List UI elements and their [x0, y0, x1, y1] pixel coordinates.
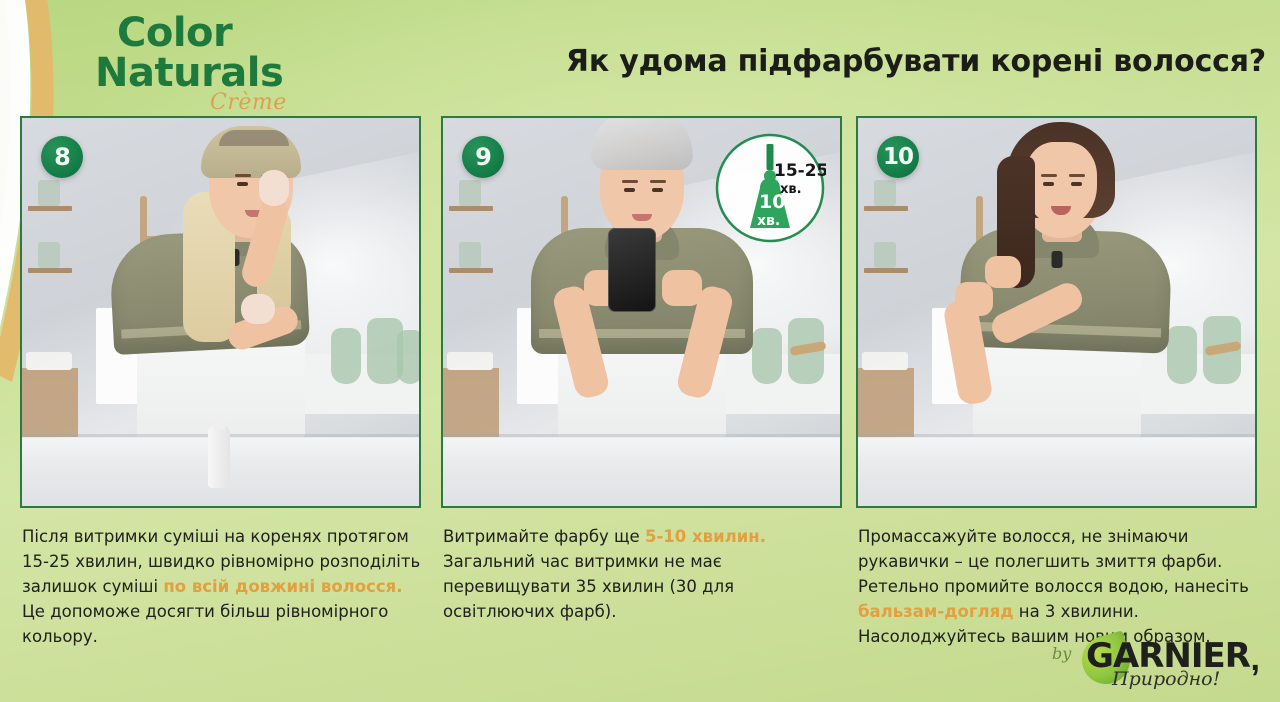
- step-image-10: [858, 118, 1255, 506]
- step-caption-10: Промассажуйте волосся, не знімаючи рукав…: [858, 524, 1270, 649]
- wall-shelf: [28, 168, 72, 288]
- timer-icon: 15-25 хв. 10 хв.: [714, 132, 826, 244]
- brand-logo: Color Naturals Crème: [95, 8, 395, 108]
- step-caption-9: Витримайте фарбу ще 5-10 хвилин. Загальн…: [443, 524, 843, 624]
- caption-highlight: 5-10 хвилин.: [645, 527, 766, 546]
- poster-canvas: Color Naturals Crème Як удома підфарбува…: [0, 0, 1280, 702]
- step-number-10: 10: [883, 146, 913, 169]
- step-badge-10: 10: [877, 136, 919, 178]
- model-figure-10: [927, 138, 1187, 438]
- step-number-9: 9: [475, 145, 491, 169]
- garnier-logo: by GARNIER , Природно!: [1046, 632, 1262, 694]
- timer-bottom-label: 10: [759, 191, 785, 213]
- vase-prop: [397, 330, 419, 384]
- caption-highlight: бальзам-догляд: [858, 602, 1014, 621]
- caption-text-before: Промассажуйте волосся, не знімаючи рукав…: [858, 527, 1249, 596]
- step-panel-8: 8: [20, 116, 421, 508]
- page-title: Як удома підфарбувати корені волосся?: [560, 44, 1266, 79]
- step-panel-10: 10: [856, 116, 1257, 508]
- step-panel-9: 9 15-25 хв. 10 хв.: [441, 116, 842, 508]
- step-image-8: [22, 118, 419, 506]
- brand-line-3: Crème: [210, 90, 287, 115]
- step-caption-8: Після витримки суміші на коренях протяго…: [22, 524, 422, 649]
- model-figure-8: [91, 138, 351, 438]
- bottle-prop: [208, 426, 230, 488]
- wall-shelf: [449, 168, 493, 288]
- caption-text-after: Це допоможе досягти більш рівномірного к…: [22, 602, 388, 646]
- garnier-slogan: Природно!: [1112, 668, 1220, 690]
- timer-bottom-unit: хв.: [757, 213, 780, 229]
- caption-text-before: Витримайте фарбу ще: [443, 527, 645, 546]
- wall-shelf: [864, 168, 908, 288]
- phone-prop: [608, 228, 656, 312]
- bottle-cap: [214, 418, 225, 430]
- step-number-8: 8: [54, 145, 70, 169]
- caption-text-after: Загальний час витримки не має перевищува…: [443, 552, 734, 621]
- step-badge-8: 8: [41, 136, 83, 178]
- timer-top-label: 15-25: [774, 161, 826, 181]
- garnier-comma: ,: [1251, 640, 1260, 679]
- caption-highlight: по всій довжині волосся.: [163, 577, 402, 596]
- step-badge-9: 9: [462, 136, 504, 178]
- garnier-by-text: by: [1052, 644, 1071, 663]
